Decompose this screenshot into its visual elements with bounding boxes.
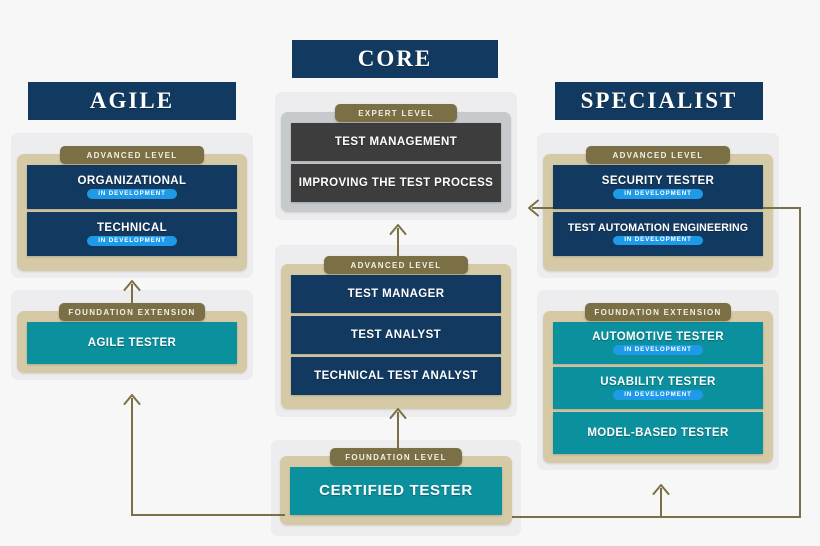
item-label: IMPROVING THE TEST PROCESS [299, 177, 493, 189]
item-usability-tester[interactable]: USABILITY TESTER IN DEVELOPMENT [553, 367, 763, 409]
item-improving-the-test-process[interactable]: IMPROVING THE TEST PROCESS [291, 164, 501, 202]
item-test-management[interactable]: TEST MANAGEMENT [291, 123, 501, 161]
group-core-foundation: FOUNDATION LEVEL CERTIFIED TESTER [280, 448, 512, 525]
in-development-badge: IN DEVELOPMENT [87, 236, 177, 245]
in-development-badge: IN DEVELOPMENT [87, 189, 177, 198]
item-test-automation-engineering[interactable]: TEST AUTOMATION ENGINEERING IN DEVELOPME… [553, 212, 763, 256]
item-label: TEST MANAGER [348, 288, 445, 300]
group-tab-label: FOUNDATION EXTENSION [68, 308, 195, 317]
item-test-manager[interactable]: TEST MANAGER [291, 275, 501, 313]
group-specialist-advanced: ADVANCED LEVEL SECURITY TESTER IN DEVELO… [543, 146, 773, 271]
item-label: CERTIFIED TESTER [319, 483, 473, 499]
group-tab-advanced-level: ADVANCED LEVEL [586, 146, 730, 164]
group-agile-advanced: ADVANCED LEVEL ORGANIZATIONAL IN DEVELOP… [17, 146, 247, 271]
column-header-specialist-label: SPECIALIST [581, 88, 738, 114]
group-tab-label: ADVANCED LEVEL [613, 151, 704, 160]
item-label: AGILE TESTER [88, 337, 177, 349]
group-tab-foundation-level: FOUNDATION LEVEL [330, 448, 462, 466]
group-specialist-foundation-extension: FOUNDATION EXTENSION AUTOMOTIVE TESTER I… [543, 303, 773, 463]
item-test-analyst[interactable]: TEST ANALYST [291, 316, 501, 354]
item-label: ORGANIZATIONAL [78, 175, 187, 187]
item-technical[interactable]: TECHNICAL IN DEVELOPMENT [27, 212, 237, 256]
item-security-tester[interactable]: SECURITY TESTER IN DEVELOPMENT [553, 165, 763, 209]
group-tab-label: ADVANCED LEVEL [87, 151, 178, 160]
item-label: TECHNICAL TEST ANALYST [314, 370, 478, 382]
in-development-badge: IN DEVELOPMENT [613, 345, 703, 354]
item-label: TEST ANALYST [351, 329, 441, 341]
group-agile-foundation-extension: FOUNDATION EXTENSION AGILE TESTER [17, 303, 247, 373]
item-organizational[interactable]: ORGANIZATIONAL IN DEVELOPMENT [27, 165, 237, 209]
item-label: TECHNICAL [97, 222, 167, 234]
arrow-foundation-to-core-advanced [389, 404, 407, 448]
item-label: MODEL-BASED TESTER [587, 427, 728, 439]
column-header-agile: AGILE [28, 82, 236, 120]
item-agile-tester[interactable]: AGILE TESTER [27, 322, 237, 364]
item-model-based-tester[interactable]: MODEL-BASED TESTER [553, 412, 763, 454]
group-tab-label: ADVANCED LEVEL [351, 261, 442, 270]
group-tab-advanced-level: ADVANCED LEVEL [324, 256, 468, 274]
group-core-expert: EXPERT LEVEL TEST MANAGEMENT IMPROVING T… [281, 104, 511, 212]
item-certified-tester[interactable]: CERTIFIED TESTER [290, 467, 502, 515]
item-label: AUTOMOTIVE TESTER [592, 331, 724, 343]
in-development-badge: IN DEVELOPMENT [613, 390, 703, 399]
item-label: USABILITY TESTER [600, 376, 715, 388]
item-label: TEST MANAGEMENT [335, 136, 457, 148]
arrow-certified-tester-to-agile [120, 386, 285, 518]
in-development-badge: IN DEVELOPMENT [613, 189, 703, 198]
group-tab-advanced-level: ADVANCED LEVEL [60, 146, 204, 164]
arrow-core-advanced-to-expert [389, 220, 407, 260]
item-label: SECURITY TESTER [602, 175, 715, 187]
in-development-badge: IN DEVELOPMENT [613, 236, 703, 245]
column-header-core-label: CORE [358, 46, 432, 72]
group-tab-foundation-extension: FOUNDATION EXTENSION [585, 303, 731, 321]
group-tab-expert-level: EXPERT LEVEL [335, 104, 457, 122]
group-tab-label: EXPERT LEVEL [358, 109, 434, 118]
group-core-advanced: ADVANCED LEVEL TEST MANAGER TEST ANALYST… [281, 256, 511, 409]
column-header-core: CORE [292, 40, 498, 78]
group-tab-foundation-extension: FOUNDATION EXTENSION [59, 303, 205, 321]
column-header-agile-label: AGILE [90, 88, 174, 114]
column-header-specialist: SPECIALIST [555, 82, 763, 120]
group-tab-label: FOUNDATION EXTENSION [594, 308, 721, 317]
item-label: TEST AUTOMATION ENGINEERING [568, 223, 748, 234]
group-tab-label: FOUNDATION LEVEL [345, 453, 447, 462]
item-automotive-tester[interactable]: AUTOMOTIVE TESTER IN DEVELOPMENT [553, 322, 763, 364]
item-technical-test-analyst[interactable]: TECHNICAL TEST ANALYST [291, 357, 501, 395]
